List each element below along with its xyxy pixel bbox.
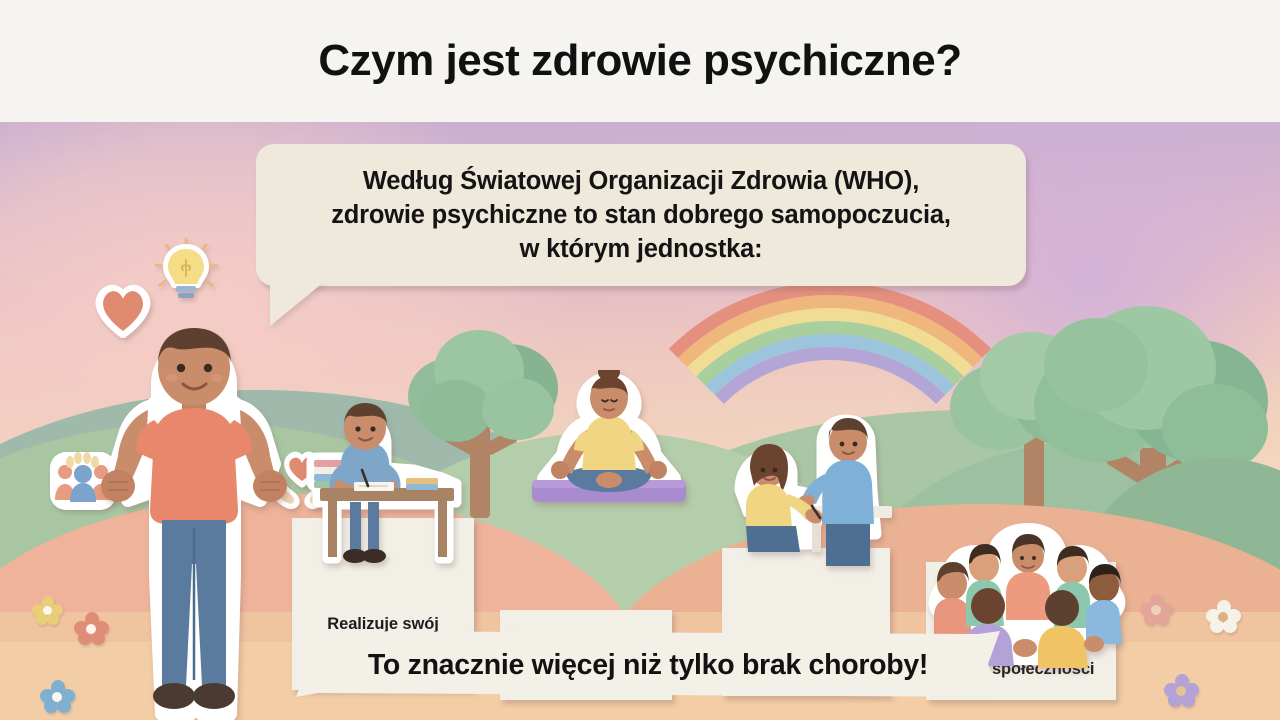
flower-purple <box>1164 674 1198 708</box>
speech-bubble: Według Światowej Organizacji Zdrowia (WH… <box>256 144 1026 286</box>
flower-white <box>1206 600 1240 634</box>
speech-line-2: zdrowie psychiczne to stan dobrego samop… <box>331 198 951 232</box>
slide-header: Czym jest zdrowie psychiczne? <box>0 0 1280 122</box>
bottom-banner-text: To znacznie więcej niż tylko brak chorob… <box>368 649 928 682</box>
boy-studying-at-desk-icon <box>296 398 478 576</box>
speech-bubble-text: Według Światowej Organizacji Zdrowia (WH… <box>331 164 951 266</box>
infographic-slide: Czym jest zdrowie psychiczne? <box>0 0 1280 720</box>
woman-meditating-icon <box>524 370 694 512</box>
flower-pink <box>1140 594 1172 626</box>
lightbulb-icon <box>154 238 218 310</box>
illustration-scene: Według Światowej Organizacji Zdrowia (WH… <box>0 122 1280 720</box>
main-character-icon <box>84 314 304 720</box>
speech-bubble-body: Według Światowej Organizacji Zdrowia (WH… <box>256 144 1026 286</box>
speech-bubble-tail <box>270 282 324 326</box>
page-title: Czym jest zdrowie psychiczne? <box>318 36 961 86</box>
two-people-working-icon <box>726 394 904 580</box>
flower-yellow <box>32 596 62 626</box>
speech-line-1: Według Światowej Organizacji Zdrowia (WH… <box>331 164 951 198</box>
bottom-banner: To znacznie więcej niż tylko brak chorob… <box>296 631 1000 697</box>
speech-line-3: w którym jednostka: <box>331 232 951 266</box>
flower-blue <box>40 680 74 714</box>
